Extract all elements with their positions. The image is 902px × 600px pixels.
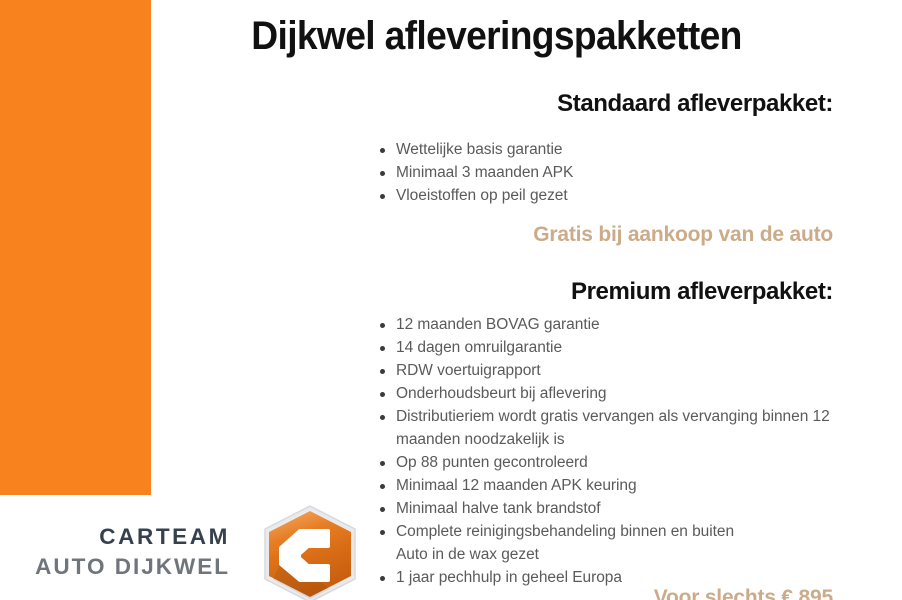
list-item: Minimaal 3 maanden APK <box>379 161 839 184</box>
carteam-hexagon-c-icon <box>256 505 368 600</box>
list-item: Wettelijke basis garantie <box>379 138 839 161</box>
list-item: RDW voertuigrapport <box>379 359 839 382</box>
page-title: Dijkwel afleveringspakketten <box>184 12 810 60</box>
list-item: 12 maanden BOVAG garantie <box>379 313 839 336</box>
promo-standaard-price: Gratis bij aankoop van de auto <box>533 222 833 248</box>
list-premium-features: 12 maanden BOVAG garantie 14 dagen omrui… <box>379 313 839 589</box>
list-item: Minimaal 12 maanden APK keuring <box>379 474 839 497</box>
list-item: Auto in de wax gezet <box>379 543 839 566</box>
list-item: 14 dagen omruilgarantie <box>379 336 839 359</box>
brand-logo: CARTEAM AUTO DIJKWEL <box>0 505 370 600</box>
brand-logo-line-auto-dijkwel: AUTO DIJKWEL <box>0 552 230 582</box>
heading-premium-afleverpakket: Premium afleverpakket: <box>571 278 833 306</box>
promo-premium-price: Voor slechts € 895 <box>654 585 833 600</box>
orange-accent-bar <box>0 0 151 495</box>
list-item: Complete reinigingsbehandeling binnen en… <box>379 520 839 543</box>
heading-standaard-afleverpakket: Standaard afleverpakket: <box>557 90 833 118</box>
list-item: Minimaal halve tank brandstof <box>379 497 839 520</box>
brand-logo-wordmark: CARTEAM AUTO DIJKWEL <box>0 522 230 582</box>
poster-canvas: Dijkwel afleveringspakketten Standaard a… <box>0 0 902 600</box>
list-standaard-features: Wettelijke basis garantie Minimaal 3 maa… <box>379 138 839 207</box>
brand-logo-line-carteam: CARTEAM <box>0 522 230 552</box>
list-item: Vloeistoffen op peil gezet <box>379 184 839 207</box>
list-item: Op 88 punten gecontroleerd <box>379 451 839 474</box>
list-item: Distributieriem wordt gratis vervangen a… <box>379 405 839 451</box>
list-item: Onderhoudsbeurt bij aflevering <box>379 382 839 405</box>
